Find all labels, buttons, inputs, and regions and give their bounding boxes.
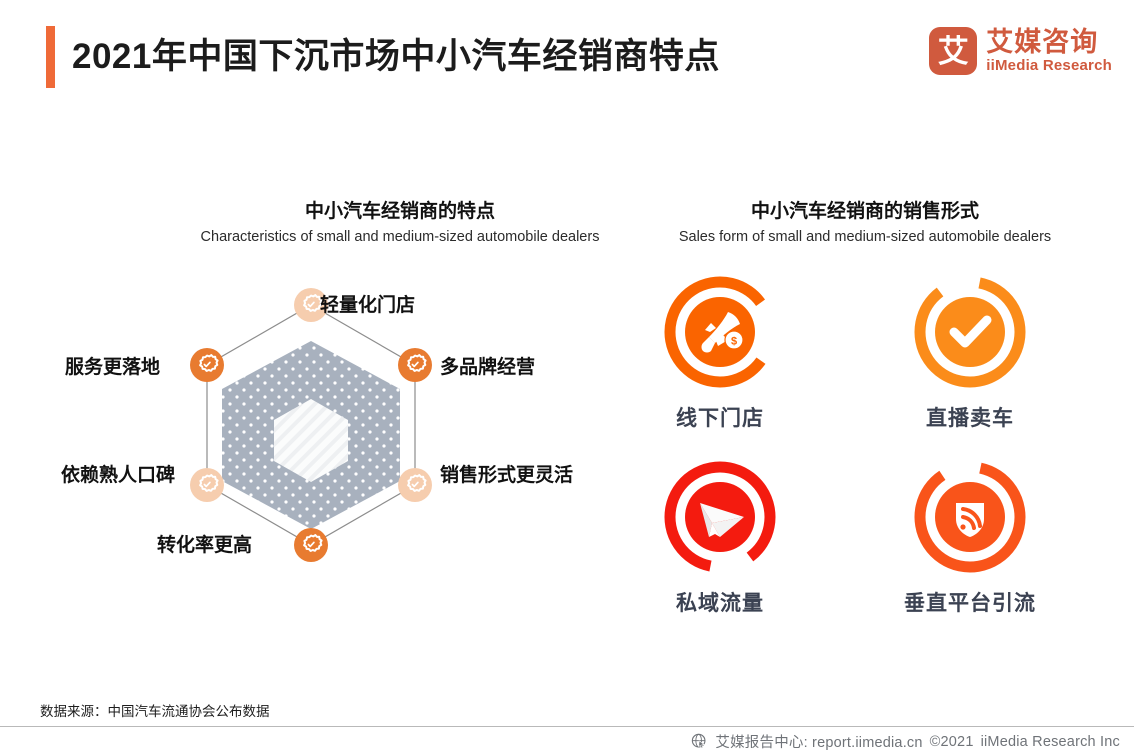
right-section-title-en: Sales form of small and medium-sized aut…: [600, 225, 1130, 249]
footer-company: iiMedia Research Inc: [981, 734, 1120, 750]
paper-plane-icon: [660, 457, 780, 577]
hexagon-node-lower-left[interactable]: [190, 468, 224, 502]
data-source-note: 数据来源：中国汽车流通协会公布数据: [40, 700, 270, 720]
ring-icon-wrapper: [910, 457, 1030, 577]
ring-icon-wrapper: [910, 272, 1030, 392]
title-accent-bar: [46, 26, 55, 88]
hexagon-label-lower-right: 销售形式更灵活: [440, 460, 573, 487]
svg-text:$: $: [731, 336, 737, 348]
sales-form-card-vertical-platform[interactable]: 垂直平台引流: [870, 457, 1070, 617]
signal-shield-icon: [910, 457, 1030, 577]
hexagon-label-top: 轻量化门店: [320, 290, 415, 317]
hexagon-label-lower-left: 依赖熟人口碑: [61, 460, 175, 487]
infographic-page: 2021年中国下沉市场中小汽车经销商特点 艾 艾媒咨询 iiMedia Rese…: [0, 0, 1134, 756]
footer-bar: 艾媒报告中心: report.iimedia.cn ©2021 iiMedia …: [0, 727, 1134, 756]
page-title: 2021年中国下沉市场中小汽车经销商特点: [72, 28, 720, 86]
sales-form-card-live-streaming[interactable]: 直播卖车: [870, 272, 1070, 432]
right-section-title-cn: 中小汽车经销商的销售形式: [600, 199, 1130, 225]
right-section-heading: 中小汽车经销商的销售形式 Sales form of small and med…: [600, 199, 1130, 249]
sales-form-label: 线下门店: [620, 402, 820, 432]
iimedia-logo-icon: 艾: [929, 27, 977, 75]
sales-form-label: 直播卖车: [870, 402, 1070, 432]
hexagon-node-upper-right[interactable]: [398, 348, 432, 382]
sales-form-grid: $ 线下门店 直播卖车: [620, 272, 1120, 642]
hexagon-label-bottom: 转化率更高: [157, 530, 252, 557]
sales-form-card-offline-store[interactable]: $ 线下门店: [620, 272, 820, 432]
check-circle-icon: [910, 272, 1030, 392]
hexagon-label-upper-left: 服务更落地: [65, 352, 160, 379]
hexagon-node-upper-left[interactable]: [190, 348, 224, 382]
sales-form-label: 私域流量: [620, 587, 820, 617]
header: 2021年中国下沉市场中小汽车经销商特点 艾 艾媒咨询 iiMedia Rese…: [0, 0, 1134, 120]
hexagon-label-upper-right: 多品牌经营: [440, 352, 535, 379]
sales-form-card-private-traffic[interactable]: 私域流量: [620, 457, 820, 617]
hexagon-node-lower-right[interactable]: [398, 468, 432, 502]
ring-icon-wrapper: $: [660, 272, 780, 392]
logo-name-en: iiMedia Research: [986, 57, 1112, 75]
sales-form-label: 垂直平台引流: [870, 587, 1070, 617]
hexagon-graphic: [45, 275, 625, 585]
logo-text: 艾媒咨询 iiMedia Research: [986, 28, 1112, 75]
ring-icon-wrapper: [660, 457, 780, 577]
globe-cursor-icon: [691, 733, 708, 750]
footer-copyright: ©2021: [930, 734, 974, 750]
logo-mark-glyph: 艾: [938, 36, 969, 67]
hexagon-node-bottom[interactable]: [294, 528, 328, 562]
footer-report-center[interactable]: 艾媒报告中心: report.iimedia.cn: [715, 731, 922, 752]
logo-name-cn: 艾媒咨询: [986, 28, 1112, 57]
hexagon-diagram: 轻量化门店 多品牌经营 销售形式更灵活 转化率更高 依赖熟人口碑 服务更落地: [45, 275, 625, 585]
rocket-coin-icon: $: [660, 272, 780, 392]
brand-logo: 艾 艾媒咨询 iiMedia Research: [929, 27, 1112, 75]
